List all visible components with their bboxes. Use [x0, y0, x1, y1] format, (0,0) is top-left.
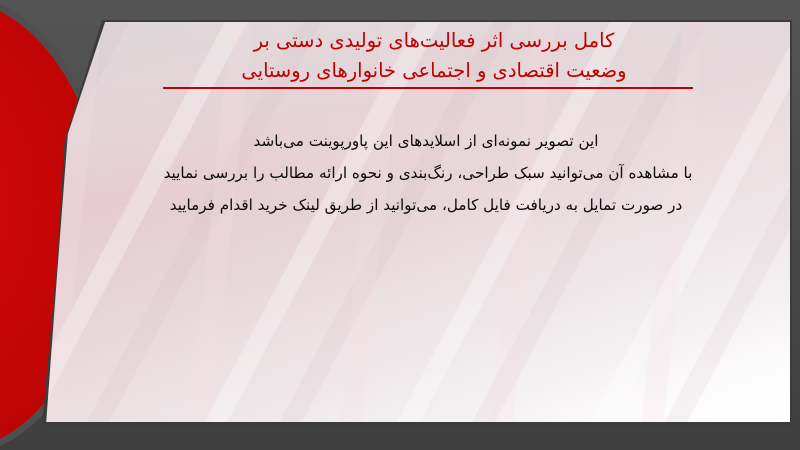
slide-title-line-1: کامل بررسی اثر فعالیت‌های تولیدی دستی بر [130, 26, 738, 56]
presentation-slide: کامل بررسی اثر فعالیت‌های تولیدی دستی بر… [0, 0, 800, 450]
slide-body-line-2: با مشاهده آن می‌توانید سبک طراحی، رنگ‌بن… [116, 157, 740, 189]
slide-title: کامل بررسی اثر فعالیت‌های تولیدی دستی بر… [60, 26, 784, 89]
slide-body-line-3: در صورت تمایل به دریافت فایل کامل، می‌تو… [114, 189, 738, 221]
slide-title-underline [163, 87, 693, 89]
slide-title-line-2: وضعیت اقتصادی و اجتماعی خانوارهای روستای… [130, 56, 738, 86]
slide-body-text: این تصویر نمونه‌ای از اسلایدهای این پاور… [60, 125, 784, 221]
slide-body-line-1: این تصویر نمونه‌ای از اسلایدهای این پاور… [114, 125, 738, 157]
slide-content: کامل بررسی اثر فعالیت‌های تولیدی دستی بر… [60, 24, 784, 420]
